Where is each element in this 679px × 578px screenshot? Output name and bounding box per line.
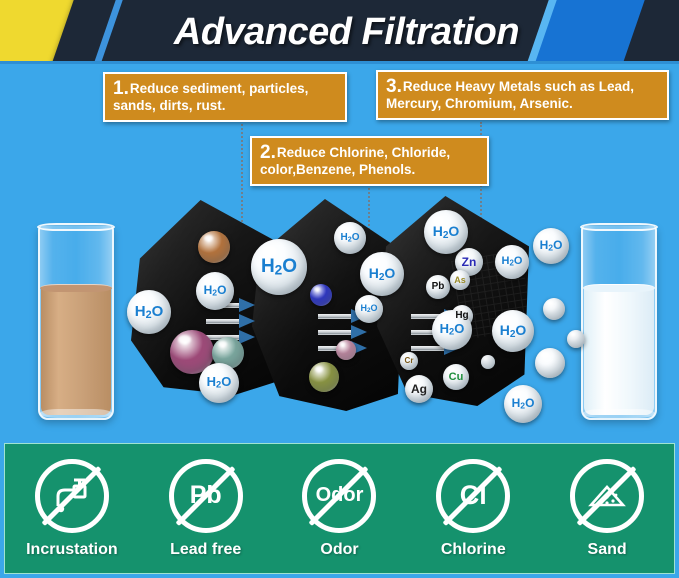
metal-ion-bubble-cr: Cr	[400, 352, 418, 370]
water-bubble-h2o: H2O	[199, 363, 239, 403]
color-particle	[336, 340, 356, 360]
no-sand-icon	[570, 459, 644, 533]
water-bubble-h2o: H2O	[533, 228, 569, 264]
metal-ion-label: Ag	[411, 383, 427, 395]
metal-ion-label: Zn	[462, 256, 477, 268]
metal-ion-label: Cr	[405, 357, 414, 365]
feature-label: Incrustation	[26, 541, 118, 559]
water-bubble-h2o: H2O	[355, 295, 383, 323]
feature-label: Sand	[588, 541, 627, 559]
water-bubble-h2o: H2O	[492, 310, 534, 352]
water-bubble-plain	[481, 355, 495, 369]
water-bubble-h2o: H2O	[334, 222, 366, 254]
no-faucet-icon	[35, 459, 109, 533]
water-bubble-plain	[535, 348, 565, 378]
no-chlorine-icon: Cl	[436, 459, 510, 533]
metal-ion-bubble-pb: Pb	[426, 275, 450, 299]
water-bubble-plain	[567, 330, 585, 348]
water-bubble-h2o: H2O	[495, 245, 529, 279]
no-odor-icon: Odor	[302, 459, 376, 533]
benefits-strip: Incrustation Pb Lead free Odor Odor Cl	[4, 443, 675, 574]
metal-ion-label: Hg	[455, 311, 468, 321]
dye-particle	[309, 362, 339, 392]
feature-lead-free: Pb Lead free	[144, 459, 268, 559]
metal-ion-label: Cu	[449, 372, 464, 383]
water-bubble-h2o: H2O	[127, 290, 171, 334]
infographic-root: Advanced Filtration 1.Reduce sediment, p…	[0, 0, 679, 578]
metal-ion-bubble-ag: Ag	[405, 375, 433, 403]
feature-chlorine: Cl Chlorine	[411, 459, 535, 559]
feature-label: Lead free	[170, 541, 241, 559]
water-bubble-h2o: H2O	[251, 239, 307, 295]
water-bubble-h2o: H2O	[196, 272, 234, 310]
metal-ion-label: Pb	[432, 282, 445, 292]
feature-incrustation: Incrustation	[10, 459, 134, 559]
metal-ion-bubble-cu: Cu	[443, 364, 469, 390]
chlorine-particle	[310, 284, 332, 306]
no-lead-icon: Pb	[169, 459, 243, 533]
feature-odor: Odor Odor	[277, 459, 401, 559]
water-bubble-h2o: H2O	[360, 252, 404, 296]
metal-ion-bubble-as: As	[450, 270, 470, 290]
feature-label: Chlorine	[441, 541, 506, 559]
rust-particle	[198, 231, 230, 263]
feature-sand: Sand	[545, 459, 669, 559]
water-bubble-plain	[543, 298, 565, 320]
water-bubble-h2o: H2O	[504, 385, 542, 423]
water-bubble-h2o: H2O	[424, 210, 468, 254]
metal-ion-label: As	[454, 276, 466, 285]
feature-label: Odor	[320, 541, 358, 559]
